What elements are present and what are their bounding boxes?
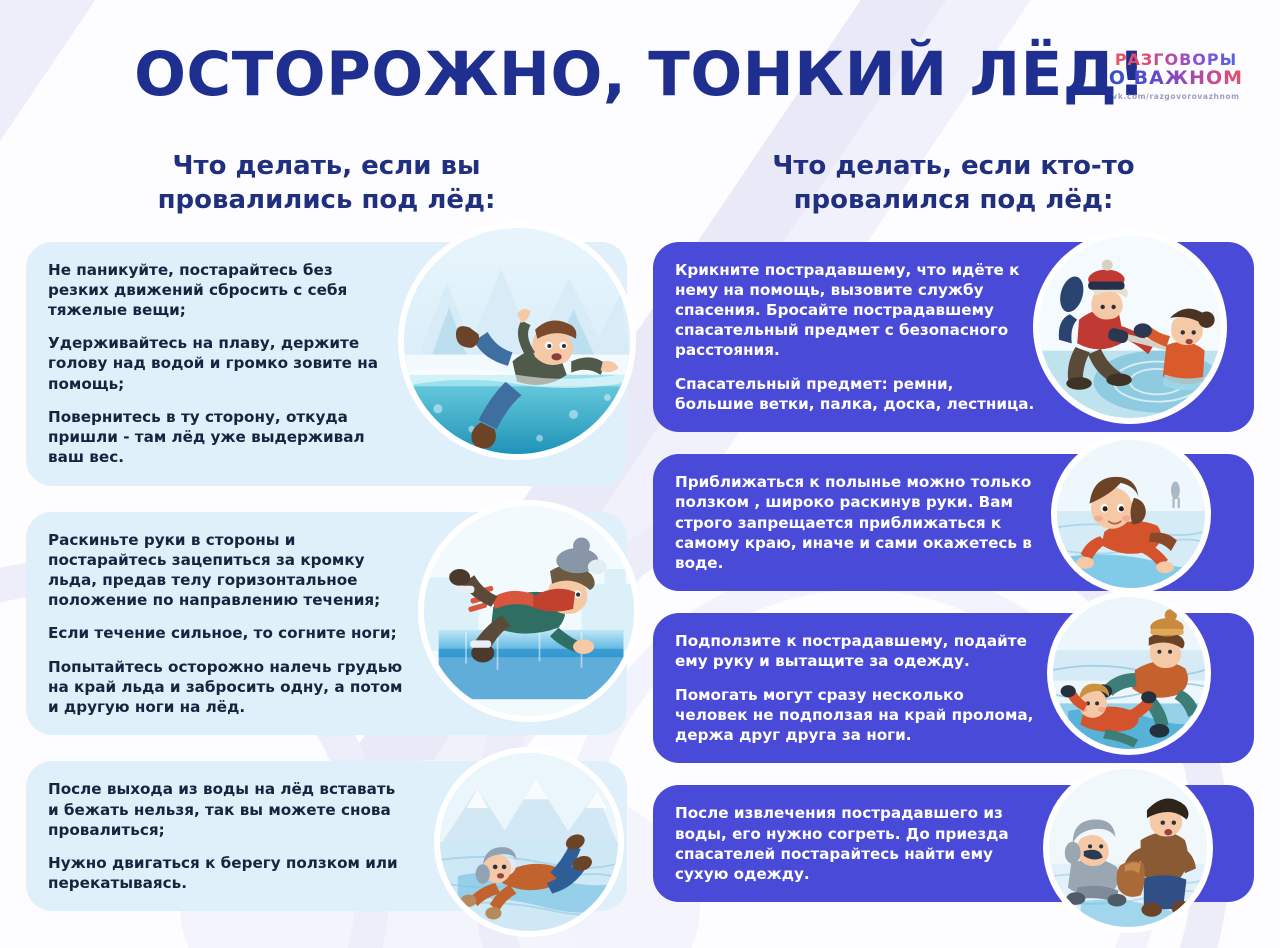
left-column: Что делать, если вы провалились под лёд:…: [26, 150, 627, 933]
advice-card: После извлечения пострадавшего из воды, …: [653, 785, 1254, 902]
boy-crawling-towards-ice-hole-illustration: [1057, 440, 1205, 588]
advice-paragraph: Повернитесь в ту сторону, откуда пришли …: [48, 407, 380, 468]
rescuer-handing-stick-to-victim-illustration: [1039, 236, 1221, 418]
boy-crawling-on-ice-illustration: [440, 753, 618, 931]
advice-paragraph: Раскиньте руки в стороны и постарайтесь …: [48, 530, 414, 611]
advice-paragraph: Попытайтесь осторожно налечь грудью на к…: [48, 657, 414, 718]
advice-card-text: После выхода из воды на лёд вставать и б…: [26, 761, 426, 911]
right-column-heading: Что делать, если кто-то провалился под л…: [653, 150, 1254, 218]
advice-paragraph: После извлечения пострадавшего из воды, …: [675, 803, 1035, 884]
left-column-heading: Что делать, если вы провалились под лёд:: [26, 150, 627, 218]
logo-url: vk.com/razgovorovazhnom: [1096, 92, 1256, 101]
page-title: ОСТОРОЖНО, ТОНКИЙ ЛЁД!: [0, 44, 1280, 105]
content-columns: Что делать, если вы провалились под лёд:…: [0, 150, 1280, 933]
advice-card: После выхода из воды на лёд вставать и б…: [26, 761, 627, 911]
advice-card-text: Не паникуйте, постарайтесь без резких дв…: [26, 242, 398, 486]
giving-dry-clothes-to-victim-illustration: [1049, 769, 1207, 927]
advice-card-text: Подползите к пострадавшему, подайте ему …: [653, 613, 1053, 763]
poster-header: ОСТОРОЖНО, ТОНКИЙ ЛЁД! РАЗГОВОРЫ О ВАЖНО…: [0, 0, 1280, 150]
advice-paragraph: Подползите к пострадавшему, подайте ему …: [675, 631, 1035, 671]
poster: ОСТОРОЖНО, ТОНКИЙ ЛЁД! РАЗГОВОРЫ О ВАЖНО…: [0, 0, 1280, 948]
advice-paragraph: Помогать могут сразу несколько человек н…: [675, 685, 1035, 746]
advice-card: Крикните пострадавшему, что идёте к нему…: [653, 242, 1254, 433]
advice-paragraph: Удерживайтесь на плаву, держите голову н…: [48, 333, 380, 394]
advice-card-text: Крикните пострадавшему, что идёте к нему…: [653, 242, 1053, 433]
logo-line-2: О ВАЖНОМ: [1096, 69, 1256, 89]
advice-card: Подползите к пострадавшему, подайте ему …: [653, 613, 1254, 763]
rescuer-pulling-victim-by-hand-illustration: [1053, 597, 1205, 749]
advice-paragraph: Спасательный предмет: ремни, большие вет…: [675, 374, 1035, 414]
advice-paragraph: Крикните пострадавшему, что идёте к нему…: [675, 260, 1035, 361]
advice-card: Приближаться к полынье можно только полз…: [653, 454, 1254, 591]
advice-paragraph: Приближаться к полынье можно только полз…: [675, 472, 1035, 573]
advice-paragraph: Нужно двигаться к берегу ползком или пер…: [48, 853, 408, 893]
right-column: Что делать, если кто-то провалился под л…: [653, 150, 1254, 933]
advice-card-text: Раскиньте руки в стороны и постарайтесь …: [26, 512, 432, 736]
razgovory-o-vazhnom-logo: РАЗГОВОРЫ О ВАЖНОМ vk.com/razgovorovazhn…: [1096, 52, 1256, 101]
boy-climbing-onto-ice-edge-illustration: [424, 506, 634, 716]
advice-card: Раскиньте руки в стороны и постарайтесь …: [26, 512, 627, 736]
advice-card: Не паникуйте, постарайтесь без резких дв…: [26, 242, 627, 486]
advice-card-text: Приближаться к полынье можно только полз…: [653, 454, 1053, 591]
boy-falling-through-ice-illustration: [404, 228, 630, 454]
advice-paragraph: Не паникуйте, постарайтесь без резких дв…: [48, 260, 380, 321]
advice-card-text: После извлечения пострадавшего из воды, …: [653, 785, 1053, 902]
advice-paragraph: После выхода из воды на лёд вставать и б…: [48, 779, 408, 840]
advice-paragraph: Если течение сильное, то согните ноги;: [48, 623, 414, 643]
